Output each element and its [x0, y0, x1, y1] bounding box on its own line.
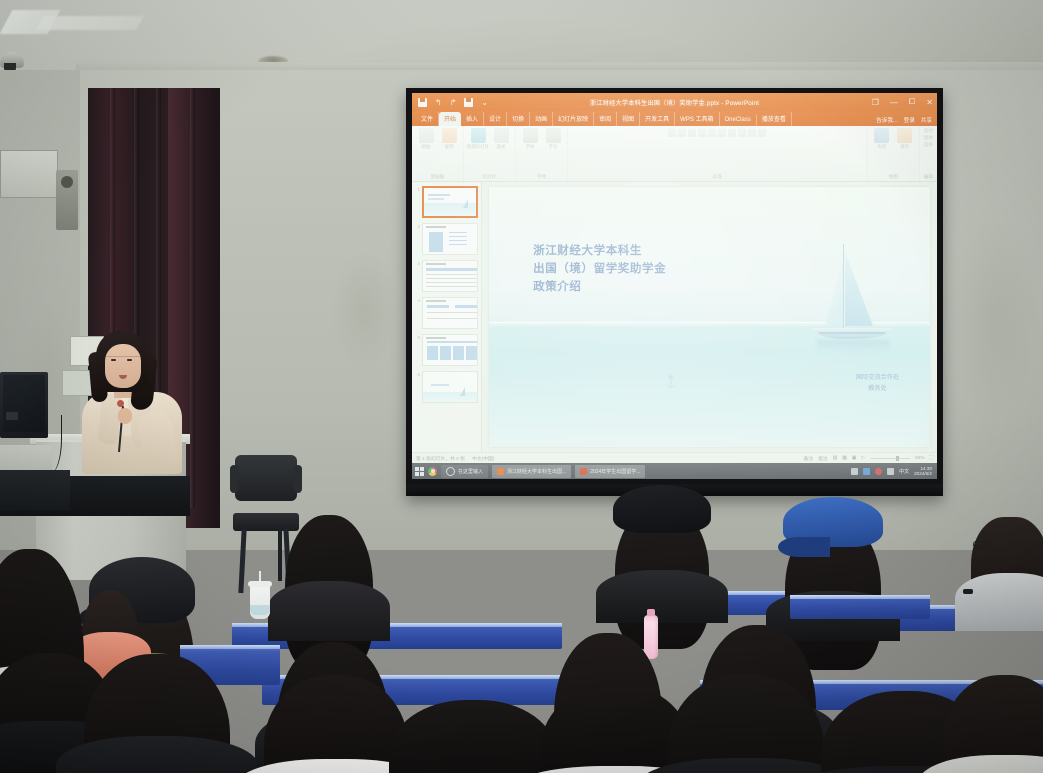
tab-view[interactable]: 视图 [617, 112, 640, 126]
find-button[interactable]: 查找 [924, 128, 933, 134]
chrome-icon[interactable] [428, 467, 437, 476]
window-title: 浙江财经大学本科生出国（境）奖助学金.pptx - PowerPoint [412, 98, 937, 107]
tab-design[interactable]: 设计 [484, 112, 507, 126]
tab-home[interactable]: 开始 [439, 112, 461, 126]
list-item [676, 663, 816, 773]
copy-button[interactable]: 复制 [439, 128, 459, 150]
taskbar-clock[interactable]: 14:30 2024/6/2 [914, 466, 932, 477]
select-button[interactable]: 选择 [924, 142, 933, 148]
font-size-icon [546, 128, 561, 143]
powerpoint-icon [497, 468, 504, 475]
shapes-button[interactable]: 形状 [872, 128, 892, 150]
slide-count-label: 第 1 张幻灯片，共 6 张 [416, 455, 465, 462]
tab-oneclass[interactable]: OneClass [720, 115, 757, 126]
shapes-icon [874, 128, 889, 143]
list-item [398, 691, 548, 773]
slide-thumbnail-2[interactable] [422, 223, 478, 255]
paste-icon [419, 128, 434, 143]
text-direction-icon[interactable] [748, 129, 756, 137]
ribbon-group-paragraph: 段落 [568, 126, 868, 181]
desk [790, 595, 930, 619]
slide-thumbnail-4[interactable] [422, 297, 478, 329]
powerpoint-window: ↰ ↱ ⌄ 浙江财经大学本科生出国（境）奖助学金.pptx - PowerPoi… [412, 93, 937, 479]
layout-button[interactable]: 版式 [491, 128, 511, 150]
slide-thumbnail-6[interactable] [422, 371, 478, 403]
input-method-label[interactable]: 中文 [899, 468, 909, 475]
sailboat-icon [809, 244, 899, 354]
statusbar: 第 1 张幻灯片，共 6 张 中文(中国) 备注 批注 ▤ ▦ ▣ ▷ 68% … [412, 452, 937, 463]
convert-smartart-icon[interactable] [758, 129, 766, 137]
lecture-hall-scene: ↰ ↱ ⌄ 浙江财经大学本科生出国（境）奖助学金.pptx - PowerPoi… [0, 0, 1043, 773]
font-icon [523, 128, 538, 143]
wristwatch [963, 589, 973, 594]
workarea: 1 2 [412, 182, 937, 452]
numbering-icon[interactable] [678, 129, 686, 137]
close-button[interactable]: ✕ [926, 98, 933, 107]
comments-button[interactable]: 批注 [818, 455, 828, 462]
list-item [548, 675, 684, 773]
normal-view-icon[interactable]: ▤ [833, 456, 838, 461]
reading-view-icon[interactable]: ▣ [852, 456, 857, 461]
sign-in-button[interactable]: 登录 [904, 116, 915, 124]
list-item [620, 495, 704, 615]
fluorescent-ceiling-light-reflection [36, 16, 144, 30]
taskbar-item-ppt-2[interactable]: 2024年学生出国留学... [575, 465, 645, 478]
share-button[interactable]: 共享 [921, 116, 932, 124]
tab-slideshow[interactable]: 幻灯片放映 [553, 112, 594, 126]
wall-stain [950, 220, 1040, 420]
tab-review[interactable]: 审阅 [594, 112, 617, 126]
list-item[interactable]: 4 [415, 297, 478, 329]
drink-cup [250, 585, 270, 619]
tell-me-search[interactable]: 告诉我... [876, 116, 897, 124]
presenter-at-podium [78, 330, 188, 470]
wall-light-fixture [56, 170, 78, 230]
projected-screen-content: ↰ ↱ ⌄ 浙江财经大学本科生出国（境）奖助学金.pptx - PowerPoi… [412, 93, 937, 479]
presenter-hand [118, 408, 132, 424]
tab-animations[interactable]: 动画 [530, 112, 553, 126]
arrange-icon [897, 128, 912, 143]
windows-start-icon[interactable] [415, 467, 424, 476]
indent-increase-icon[interactable] [698, 129, 706, 137]
sailboat-icon [460, 387, 465, 396]
slide-editing-stage[interactable]: 浙江财经大学本科生 出国（境）留学奖助学金 政策介绍 国际交流合作处 教务处 [482, 182, 937, 452]
audience: Copenhagen MR. [0, 495, 1043, 773]
list-item[interactable]: 1 [415, 186, 478, 218]
new-slide-icon [471, 128, 486, 143]
slide-thumbnail-1[interactable] [422, 186, 478, 218]
group-label-slides: 幻灯片 [483, 174, 497, 181]
zoom-level-label[interactable]: 68% [915, 456, 925, 461]
list-item [92, 643, 222, 773]
clock-date: 2024/6/2 [914, 471, 932, 476]
powerpoint-icon [580, 468, 587, 475]
group-label-editing: 编辑 [924, 174, 933, 181]
wall-stain [330, 250, 400, 370]
zoom-slider[interactable] [870, 458, 910, 459]
paragraph-controls[interactable] [668, 129, 766, 137]
tab-wps-tools[interactable]: WPS 工具箱 [675, 112, 719, 126]
align-left-icon[interactable] [708, 129, 716, 137]
notification-icon[interactable] [875, 468, 882, 475]
tab-developer[interactable]: 开发工具 [640, 112, 675, 126]
minimize-button[interactable]: — [890, 98, 898, 107]
list-item [290, 505, 368, 635]
slideshow-icon[interactable]: ▷ [861, 456, 865, 461]
ribbon-group-drawing: 形状 排列 绘图 [868, 126, 920, 181]
align-right-icon[interactable] [728, 129, 736, 137]
presenter-face [105, 344, 141, 388]
font-button[interactable]: 字体 [520, 128, 540, 150]
group-label-drawing: 绘图 [889, 174, 898, 181]
list-item[interactable]: 2 [415, 223, 478, 255]
arrange-button[interactable]: 排列 [895, 128, 915, 150]
ribbon-tabs: 文件 开始 插入 设计 切换 动画 幻灯片放映 审阅 视图 开发工具 WPS 工… [412, 111, 937, 126]
ribbon-group-editing: 查找 替换 选择 编辑 [920, 126, 937, 181]
network-icon[interactable] [863, 468, 870, 475]
tab-playback[interactable]: 播放查看 [757, 112, 792, 126]
student-with-glasses [975, 507, 1043, 627]
search-icon [446, 467, 455, 476]
group-label-clipboard: 剪贴板 [431, 174, 445, 181]
ribbon-group-font: 字体 字号 字体 [516, 126, 568, 181]
ceiling [0, 0, 1043, 70]
slide-title[interactable]: 浙江财经大学本科生 出国（境）留学奖助学金 政策介绍 [533, 242, 666, 297]
search-input[interactable]: 在这里输入 [441, 465, 488, 478]
anchor-icon [665, 374, 677, 390]
ribbon-group-clipboard: 粘贴 复制 剪贴板 [412, 126, 464, 181]
slide-thumbnail-3[interactable] [422, 260, 478, 292]
line-spacing-icon[interactable] [738, 129, 746, 137]
fit-to-window-icon[interactable]: ⛶ [930, 455, 933, 461]
align-center-icon[interactable] [718, 129, 726, 137]
clock-time: 14:30 [921, 466, 933, 471]
indent-decrease-icon[interactable] [688, 129, 696, 137]
slide-thumbnail-panel[interactable]: 1 2 [412, 182, 482, 452]
tab-file[interactable]: 文件 [416, 112, 439, 126]
windows-taskbar: 在这里输入 浙江财经大学本科生出国... 2024年学生出国留学... 中文 [412, 463, 937, 479]
student-white-hoodie: MR.ENJOY [272, 665, 400, 773]
list-item[interactable]: 5 [415, 334, 478, 366]
maximize-button[interactable]: ⧠ [909, 97, 915, 107]
microphone-icon [117, 400, 124, 407]
copy-icon [442, 128, 457, 143]
powerpoint-titlebar: ↰ ↱ ⌄ 浙江财经大学本科生出国（境）奖助学金.pptx - PowerPoi… [412, 93, 937, 111]
slide-thumbnail-5[interactable] [422, 334, 478, 366]
slide-sorter-icon[interactable]: ▦ [842, 456, 847, 461]
current-slide[interactable]: 浙江财经大学本科生 出国（境）留学奖助学金 政策介绍 国际交流合作处 教务处 [489, 187, 930, 447]
slide-subtitle[interactable]: 国际交流合作处 教务处 [856, 372, 899, 394]
list-item[interactable]: 3 [415, 260, 478, 292]
curtain-fold [190, 88, 195, 508]
cap-brim [778, 537, 830, 557]
font-size-button[interactable]: 字号 [543, 128, 563, 150]
language-label[interactable]: 中文(中国) [472, 455, 494, 462]
group-label-paragraph: 段落 [713, 174, 722, 181]
notes-button[interactable]: 备注 [803, 455, 813, 462]
sailboat-icon [463, 199, 468, 208]
restore-button[interactable]: ❐ [872, 98, 879, 107]
group-label-font: 字体 [537, 174, 546, 181]
ribbon-group-slides: 新建幻灯片 版式 幻灯片 [464, 126, 516, 181]
wall-panel [0, 150, 58, 198]
taskbar-item-ppt-1[interactable]: 浙江财经大学本科生出国... [492, 465, 571, 478]
tab-transitions[interactable]: 切换 [507, 112, 530, 126]
replace-button[interactable]: 替换 [924, 135, 933, 141]
usb-icon[interactable] [851, 468, 858, 475]
new-slide-button[interactable]: 新建幻灯片 [468, 128, 488, 150]
layout-icon [494, 128, 509, 143]
glasses-icon [973, 541, 989, 548]
list-item[interactable]: 6 [415, 371, 478, 403]
paste-button[interactable]: 粘贴 [416, 128, 436, 150]
list-item [950, 665, 1043, 773]
ribbon: 粘贴 复制 剪贴板 新建幻灯片 [412, 126, 937, 182]
tab-insert[interactable]: 插入 [461, 112, 484, 126]
bullets-icon[interactable] [668, 129, 676, 137]
search-placeholder: 在这里输入 [458, 468, 483, 475]
volume-icon[interactable] [887, 468, 894, 475]
